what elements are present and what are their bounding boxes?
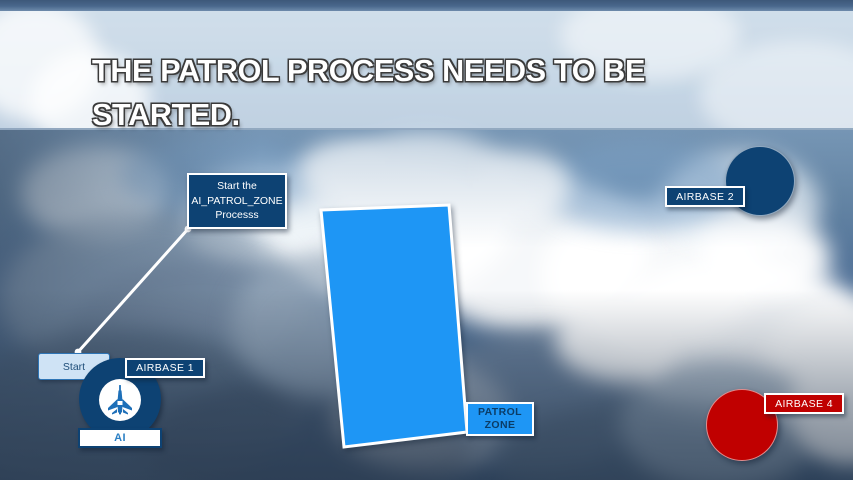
- page-title: THE PATROL PROCESS NEEDS TO BE STARTED.: [92, 50, 792, 137]
- ai-aircraft-node[interactable]: AI: [79, 378, 161, 440]
- callout-line-1: Start the: [217, 179, 257, 194]
- airbase-4-label[interactable]: AIRBASE 4: [764, 393, 844, 414]
- airbase-2-label[interactable]: AIRBASE 2: [665, 186, 745, 207]
- patrol-zone-label-line-1: PATROL: [478, 406, 522, 419]
- callout-line-3: Processs: [215, 208, 258, 223]
- patrol-zone-label-line-2: ZONE: [485, 419, 516, 432]
- slide-canvas: THE PATROL PROCESS NEEDS TO BE STARTED. …: [0, 0, 853, 480]
- patrol-zone-label[interactable]: PATROL ZONE: [466, 402, 534, 436]
- airbase-1-label[interactable]: AIRBASE 1: [125, 358, 205, 378]
- top-accent-strip: [0, 0, 853, 11]
- callout-line-2: AI_PATROL_ZONE: [191, 194, 282, 209]
- callout-start-process[interactable]: Start the AI_PATROL_ZONE Processs: [187, 173, 287, 229]
- fighter-jet-icon: [105, 384, 135, 416]
- ai-node-label[interactable]: AI: [78, 428, 162, 448]
